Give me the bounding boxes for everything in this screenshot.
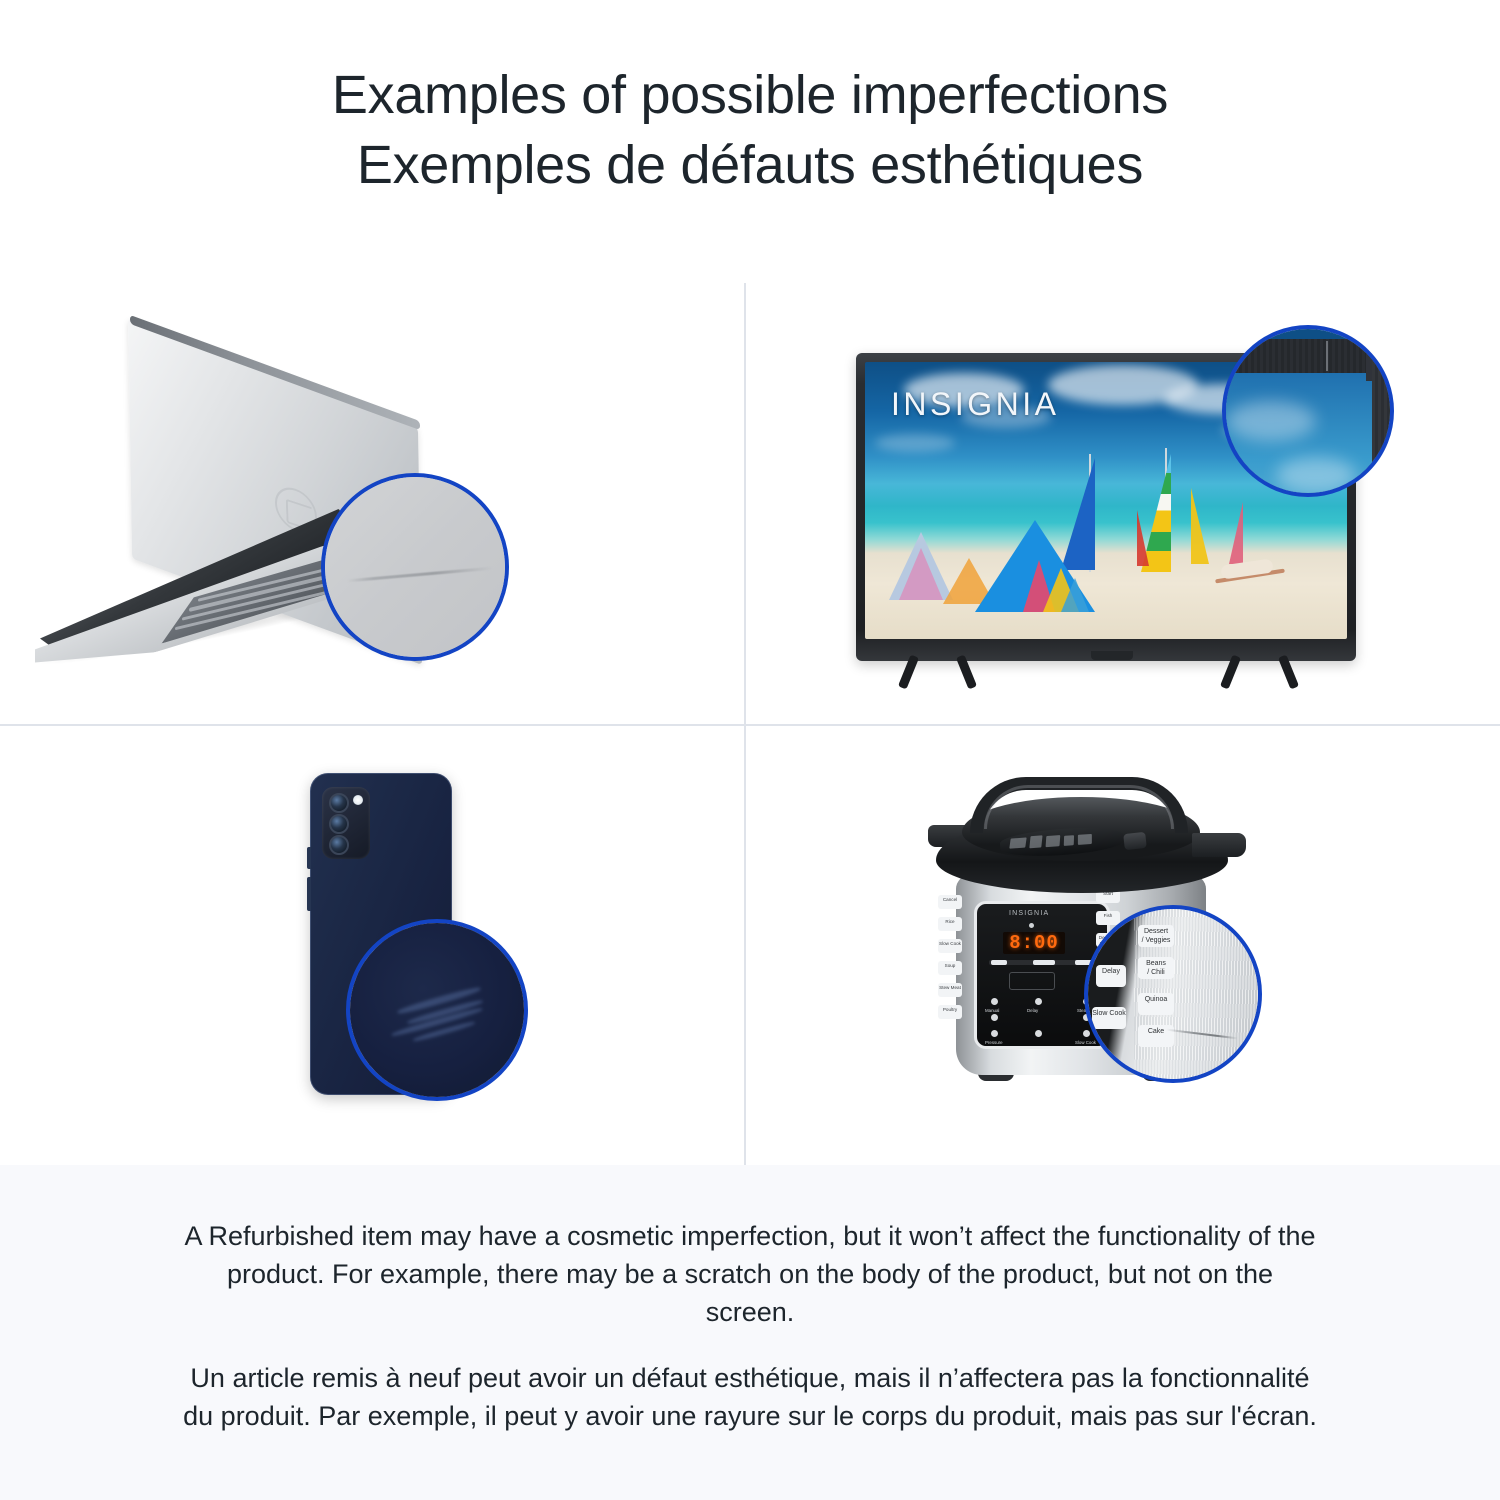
laptop-imperfection-magnifier xyxy=(321,473,509,661)
cooker-side-button[interactable]: Slow Cook xyxy=(938,939,962,953)
tv-bezel-scratch-mark xyxy=(1326,341,1328,371)
camera-lens-icon xyxy=(329,814,349,834)
cooker-imperfection-magnifier: Delay Slow Cook Dessert / Veggies Beans … xyxy=(1084,905,1262,1083)
cooker-magnified-button[interactable]: Delay xyxy=(1096,965,1126,987)
television-illustration: INSIGNIA xyxy=(856,325,1376,685)
magnifier-surface xyxy=(1226,329,1390,493)
footer-description: A Refurbished item may have a cosmetic i… xyxy=(0,1165,1500,1500)
cooker-side-button[interactable]: Rice xyxy=(938,917,962,931)
phone-camera-module xyxy=(322,787,370,859)
tv-imperfection-magnifier xyxy=(1222,325,1394,497)
footer-paragraph-french: Un article remis à neuf peut avoir un dé… xyxy=(180,1359,1320,1435)
cooker-button[interactable] xyxy=(1035,998,1042,1005)
smartphone-illustration xyxy=(290,773,470,1123)
cooker-handle-highlight xyxy=(984,785,1174,829)
cooker-button[interactable] xyxy=(991,1030,998,1037)
cooker-side-button[interactable]: Stew Meat xyxy=(938,983,962,997)
infographic-page: Examples of possible imperfections Exemp… xyxy=(0,0,1500,1500)
tv-logo-nub xyxy=(1091,651,1133,660)
pressure-cooker-illustration: INSIGNIA 8:00 xyxy=(916,755,1296,1127)
tv-stand-left xyxy=(904,655,980,689)
cooker-display: 8:00 xyxy=(1003,932,1065,954)
cooker-mode-indicator xyxy=(1009,972,1055,990)
magnifier-surface: Delay Slow Cook Dessert / Veggies Beans … xyxy=(1088,909,1258,1079)
cooker-brand-logo: INSIGNIA xyxy=(1009,910,1049,917)
title-line-english: Examples of possible imperfections xyxy=(0,60,1500,130)
camera-lens-icon xyxy=(329,793,349,813)
cooker-indicator-light xyxy=(1029,923,1034,928)
footer-paragraph-english: A Refurbished item may have a cosmetic i… xyxy=(180,1217,1320,1331)
page-title: Examples of possible imperfections Exemp… xyxy=(0,60,1500,200)
camera-flash-icon xyxy=(353,795,363,805)
phone-volume-button xyxy=(307,847,311,869)
tv-bezel-right-closeup xyxy=(1372,339,1394,497)
example-cell-phone xyxy=(0,725,744,1166)
cooker-button[interactable] xyxy=(1035,1030,1042,1037)
cooker-button[interactable] xyxy=(991,1014,998,1021)
cooker-button-label: Pressure xyxy=(985,1040,1003,1045)
examples-grid: INSIGNIA xyxy=(0,283,1500,1165)
laptop-illustration xyxy=(25,371,495,661)
cooker-button[interactable] xyxy=(991,998,998,1005)
cooker-side-button[interactable]: Soup xyxy=(938,961,962,975)
tv-stand-right xyxy=(1226,655,1302,689)
phone-imperfection-magnifier xyxy=(346,919,528,1101)
cooker-magnified-button[interactable]: Slow Cook xyxy=(1092,1007,1126,1029)
example-cell-pressure-cooker: INSIGNIA 8:00 xyxy=(746,725,1490,1166)
cooker-magnified-button[interactable]: Beans / Chili xyxy=(1138,957,1174,979)
title-line-french: Exemples de défauts esthétiques xyxy=(0,130,1500,200)
cooker-button-label: Delay xyxy=(1027,1008,1038,1013)
camera-lens-icon xyxy=(329,835,349,855)
example-cell-tv: INSIGNIA xyxy=(746,283,1490,724)
tv-screen-closeup xyxy=(1222,371,1376,497)
tv-brand-logo: INSIGNIA xyxy=(891,386,1059,423)
cooker-side-button[interactable]: Cancel xyxy=(938,895,962,909)
cooker-display-value: 8:00 xyxy=(1009,932,1059,954)
cooker-left-button-column: Cancel Rice Slow Cook Soup Stew Meat Pou… xyxy=(938,895,958,1023)
cooker-steam-release-valve[interactable] xyxy=(1123,832,1147,850)
cooker-magnified-button[interactable]: Dessert / Veggies xyxy=(1138,925,1174,947)
cooker-button-label: Manual xyxy=(985,1008,999,1013)
example-cell-laptop xyxy=(0,283,744,724)
cooker-lid-assembly xyxy=(936,781,1228,897)
magnifier-surface xyxy=(350,923,524,1097)
cooker-side-button[interactable]: Poultry xyxy=(938,1005,962,1019)
cooker-magnified-button[interactable]: Quinoa xyxy=(1138,993,1174,1015)
cooker-side-handle-right xyxy=(1192,833,1246,857)
cooker-pressure-bargraph xyxy=(989,960,1097,965)
phone-power-button xyxy=(307,877,311,911)
